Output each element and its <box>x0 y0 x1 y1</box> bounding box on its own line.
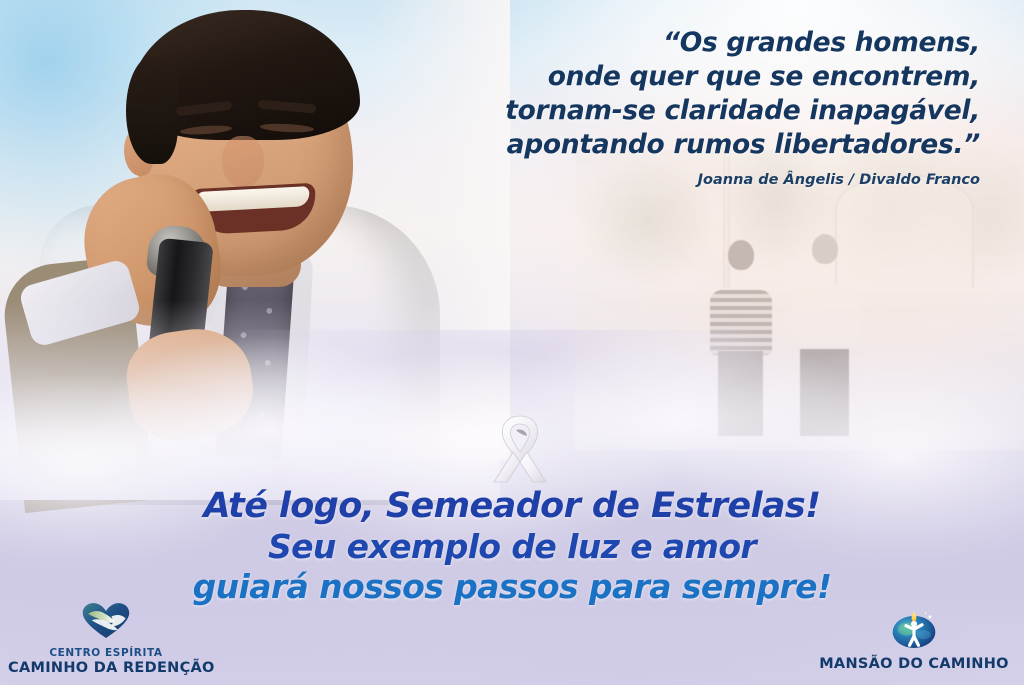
quote-line-2: onde quer que se encontrem, <box>420 60 980 94</box>
globe-with-figure-icon <box>814 606 1014 653</box>
figure-head <box>812 234 838 264</box>
logo-mansao-do-caminho[interactable]: MANSÃO DO CAMINHO <box>814 606 1014 673</box>
teeth <box>197 186 310 212</box>
figure-head <box>728 240 754 270</box>
headline-block: Até logo, Semeador de Estrelas! Seu exem… <box>0 486 1024 607</box>
headline-line-3: guiará nossos passos para sempre! <box>0 567 1024 607</box>
quote-line-4: apontando rumos libertadores.” <box>420 128 980 162</box>
logo-left-line-1: CENTRO ESPÍRITA <box>8 647 204 660</box>
headline-line-2: Seu exemplo de luz e amor <box>0 527 1024 567</box>
quote-line-1: “Os grandes homens, <box>420 26 980 60</box>
sideburn <box>126 56 178 164</box>
headline-line-1: Até logo, Semeador de Estrelas! <box>0 486 1024 527</box>
quote-text: “Os grandes homens, onde quer que se enc… <box>420 26 980 162</box>
heart-with-hands-icon <box>8 602 204 644</box>
logo-centro-espirita[interactable]: CENTRO ESPÍRITA CAMINHO DA REDENÇÃO <box>8 602 204 677</box>
mourning-ribbon-icon <box>489 410 551 488</box>
memorial-poster: “Os grandes homens, onde quer que se enc… <box>0 0 1024 685</box>
quote-attribution: Joanna de Ângelis / Divaldo Franco <box>420 172 980 188</box>
logo-left-line-2: CAMINHO DA REDENÇÃO <box>8 660 204 677</box>
quote-line-3: tornam-se claridade inapagável, <box>420 94 980 128</box>
nose <box>222 136 264 188</box>
logo-right-line-1: MANSÃO DO CAMINHO <box>814 656 1014 673</box>
